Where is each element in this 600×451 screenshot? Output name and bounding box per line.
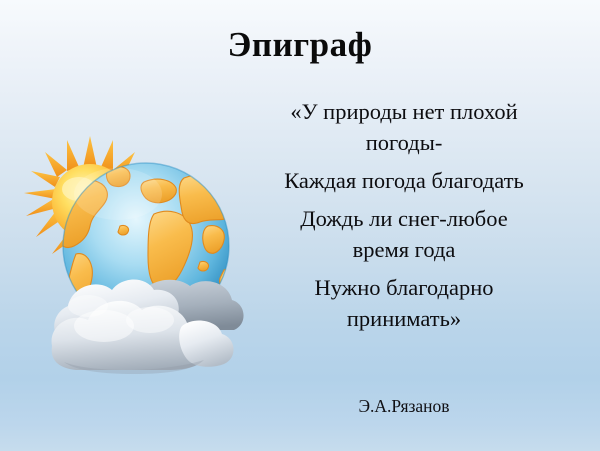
quote-line: Каждая погода благодать <box>248 165 560 196</box>
slide-canvas: Эпиграф <box>0 0 600 451</box>
quote-attribution: Э.А.Рязанов <box>248 396 560 417</box>
quote-line: погоды- <box>248 127 560 158</box>
quote-stanza: «У природы нет плохой погоды- <box>248 96 560 158</box>
sun-globe-clouds-illustration <box>18 130 250 380</box>
cloud-icon <box>52 280 244 375</box>
quote-line: принимать» <box>248 303 560 334</box>
page-title: Эпиграф <box>0 24 600 66</box>
quote-stanza: Каждая погода благодать <box>248 165 560 196</box>
quote-stanza: Нужно благодарно принимать» <box>248 272 560 334</box>
quote-line: Дождь ли снег-любое <box>248 203 560 234</box>
epigraph-quote: «У природы нет плохой погоды- Каждая пог… <box>248 96 560 341</box>
quote-line: Нужно благодарно <box>248 272 560 303</box>
quote-line: «У природы нет плохой <box>248 96 560 127</box>
quote-stanza: Дождь ли снег-любое время года <box>248 203 560 265</box>
quote-line: время года <box>248 234 560 265</box>
